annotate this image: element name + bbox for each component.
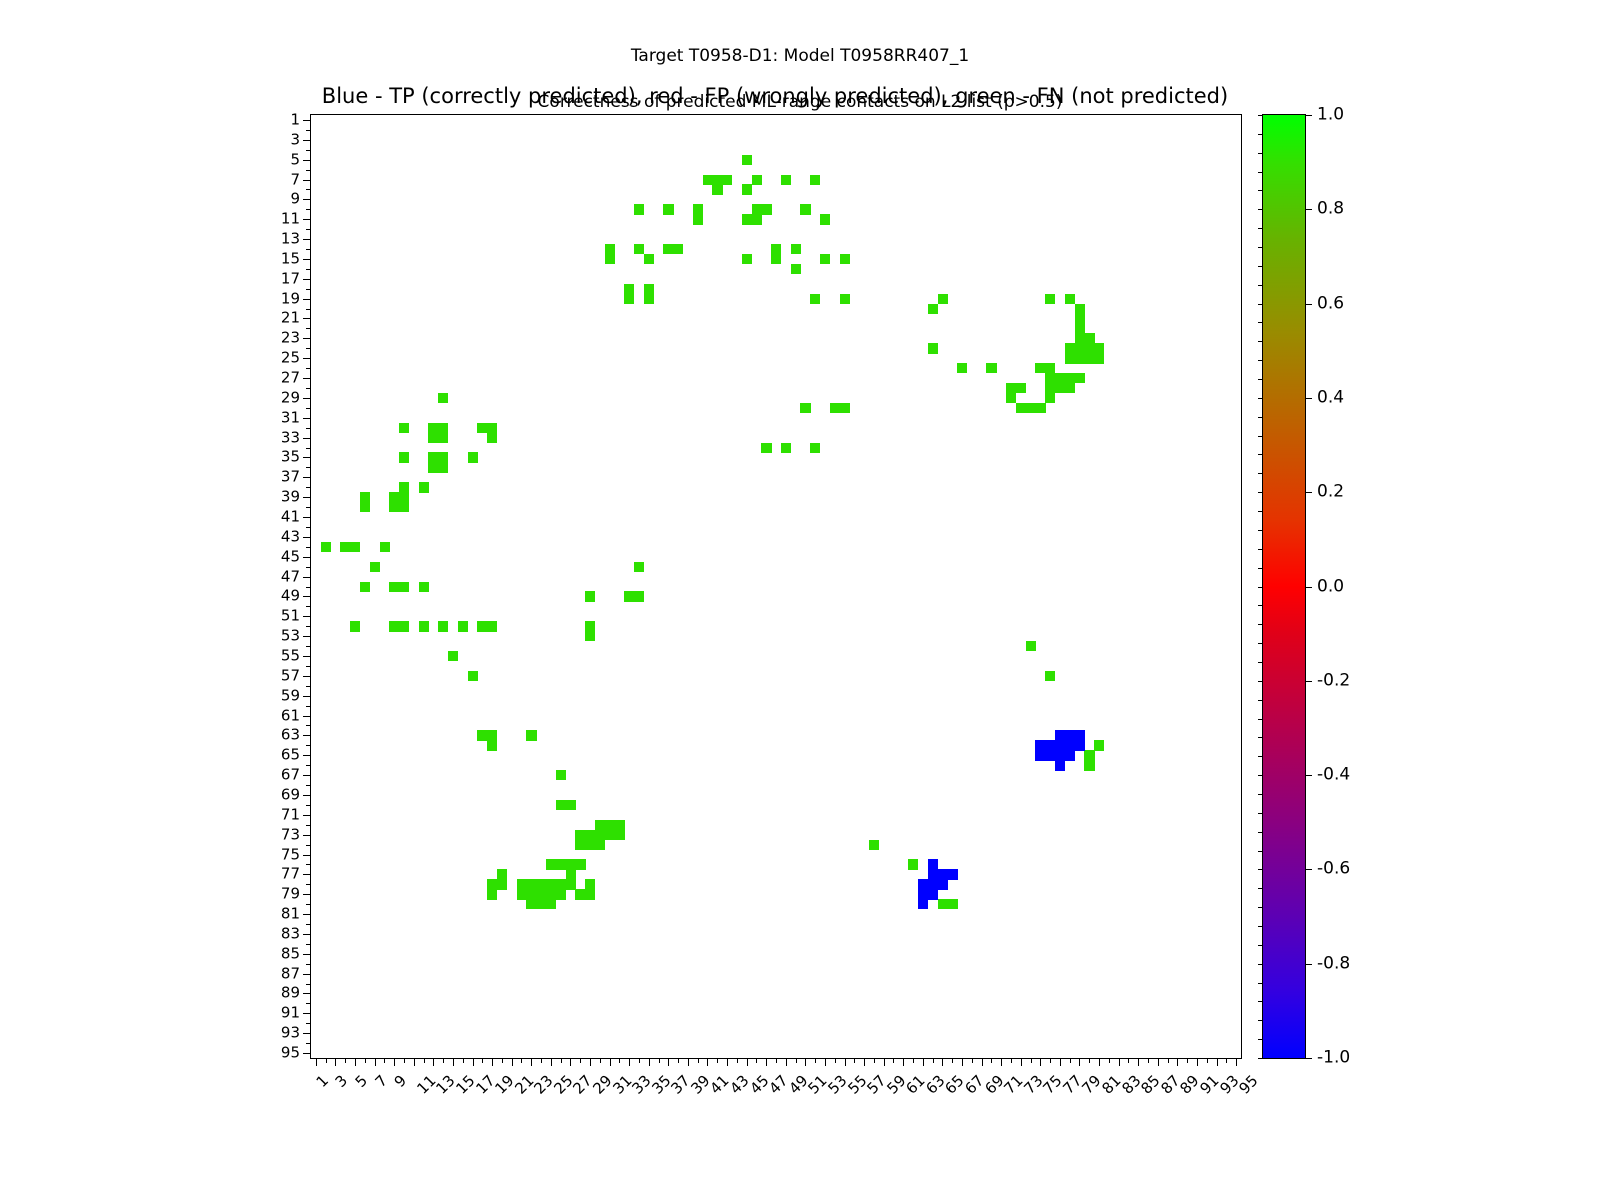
y-axis-minor-tick — [306, 984, 311, 985]
y-axis-tick — [303, 596, 311, 597]
contact-cell-fn — [399, 423, 409, 433]
contact-cell-fn — [634, 562, 644, 572]
contact-cell-fn — [1055, 383, 1065, 393]
y-axis-tick-label: 7 — [290, 172, 300, 187]
contact-cell-fn — [1016, 383, 1026, 393]
x-axis-minor-tick — [913, 1058, 914, 1063]
y-axis-tick-label: 19 — [281, 291, 300, 306]
colorbar-minor-tick — [1258, 832, 1263, 833]
contact-cell-fn — [840, 294, 850, 304]
y-axis-tick-label: 11 — [281, 212, 300, 227]
x-axis-minor-tick — [639, 1058, 640, 1063]
y-axis-tick-label: 79 — [281, 887, 300, 902]
x-axis-minor-tick — [1011, 1058, 1012, 1063]
y-axis-tick — [303, 696, 311, 697]
x-axis-tick — [1177, 1058, 1178, 1066]
contact-cell-fn — [644, 254, 654, 264]
contact-cell-tp — [938, 879, 948, 889]
colorbar-minor-tick — [1258, 266, 1263, 267]
x-axis-minor-tick — [815, 1058, 816, 1063]
y-axis-tick — [303, 954, 311, 955]
colorbar-minor-tick — [1258, 662, 1263, 663]
colorbar-minor-tick — [1258, 888, 1263, 889]
contact-cell-fn — [928, 304, 938, 314]
contact-cell-fn — [791, 264, 801, 274]
y-axis-tick — [303, 537, 311, 538]
x-axis-minor-tick — [659, 1058, 660, 1063]
contact-map-plot-area[interactable]: 1357911131517192123252729313335373941434… — [310, 114, 1242, 1059]
colorbar-minor-tick — [1258, 209, 1263, 210]
colorbar-minor-tick — [1258, 1058, 1263, 1059]
colorbar-minor-tick — [1258, 549, 1263, 550]
y-axis-tick — [303, 299, 311, 300]
x-axis-tick — [1060, 1058, 1061, 1066]
x-axis-tick — [786, 1058, 787, 1066]
contact-cell-fn — [546, 879, 556, 889]
colorbar-minor-tick — [1258, 1020, 1263, 1021]
contact-cell-fn — [360, 582, 370, 592]
y-axis-tick — [303, 795, 311, 796]
contact-cell-fn — [487, 730, 497, 740]
contact-cell-tp — [947, 869, 957, 879]
colorbar-minor-tick — [1258, 436, 1263, 437]
x-axis-minor-tick — [541, 1058, 542, 1063]
colorbar-minor-tick — [1258, 756, 1263, 757]
contact-cell-fn — [399, 582, 409, 592]
contact-cell-fn — [1075, 304, 1085, 314]
x-axis-minor-tick — [991, 1058, 992, 1063]
y-axis-tick-label: 89 — [281, 986, 300, 1001]
contact-cell-fn — [605, 830, 615, 840]
contact-cell-fn — [585, 879, 595, 889]
contact-cell-fn — [477, 423, 487, 433]
contact-cell-fn — [585, 591, 595, 601]
contact-cell-tp — [1065, 740, 1075, 750]
colorbar-minor-tick — [1258, 737, 1263, 738]
contact-cell-fn — [428, 462, 438, 472]
x-axis-tick — [570, 1058, 571, 1066]
y-axis-tick — [303, 735, 311, 736]
y-axis-minor-tick — [306, 130, 311, 131]
contact-cell-fn — [448, 651, 458, 661]
contact-cell-fn — [487, 879, 497, 889]
contact-cell-fn — [526, 889, 536, 899]
contact-cell-fn — [428, 423, 438, 433]
contact-cell-fn — [1006, 393, 1016, 403]
x-axis-minor-tick — [874, 1058, 875, 1063]
y-axis-minor-tick — [306, 547, 311, 548]
contact-cell-fn — [1055, 373, 1065, 383]
x-axis-minor-tick — [678, 1058, 679, 1063]
y-axis-tick — [303, 775, 311, 776]
contact-cell-fn — [947, 899, 957, 909]
contact-cell-tp — [918, 879, 928, 889]
x-axis-tick-label: 7 — [373, 1073, 390, 1090]
y-axis-tick-label: 29 — [281, 390, 300, 405]
contact-cell-fn — [487, 740, 497, 750]
y-axis-minor-tick — [306, 408, 311, 409]
colorbar-minor-tick — [1258, 247, 1263, 248]
contact-cell-fn — [556, 879, 566, 889]
contact-cell-tp — [928, 869, 938, 879]
colorbar-minor-tick — [1258, 190, 1263, 191]
contact-cell-fn — [1075, 353, 1085, 363]
colorbar-minor-tick — [1258, 379, 1263, 380]
colorbar-minor-tick — [1258, 964, 1263, 965]
contact-cell-fn — [800, 403, 810, 413]
colorbar-tick-label: -0.4 — [1317, 767, 1350, 784]
y-axis-tick-label: 65 — [281, 748, 300, 763]
contact-cells-layer — [311, 115, 1241, 1058]
contact-cell-fn — [468, 671, 478, 681]
y-axis-minor-tick — [306, 368, 311, 369]
contact-cell-fn — [781, 443, 791, 453]
x-axis-minor-tick — [756, 1058, 757, 1063]
x-axis-tick — [825, 1058, 826, 1066]
contact-cell-fn — [585, 621, 595, 631]
colorbar-minor-tick — [1258, 417, 1263, 418]
y-axis-minor-tick — [306, 785, 311, 786]
y-axis-minor-tick — [306, 825, 311, 826]
y-axis-tick-label: 63 — [281, 728, 300, 743]
colorbar-tick-label: -0.2 — [1317, 672, 1350, 689]
x-axis-minor-tick — [933, 1058, 934, 1063]
x-axis-tick — [688, 1058, 689, 1066]
x-axis-tick — [942, 1058, 943, 1066]
x-axis-tick — [531, 1058, 532, 1066]
y-axis-minor-tick — [306, 328, 311, 329]
x-axis-tick — [1040, 1058, 1041, 1066]
x-axis-tick — [1158, 1058, 1159, 1066]
y-axis-minor-tick — [306, 587, 311, 588]
figure-canvas: Target T0958-D1: Model T0958RR407_1 Corr… — [0, 0, 1600, 1200]
x-axis-tick — [433, 1058, 434, 1066]
contact-cell-fn — [438, 393, 448, 403]
y-axis-minor-tick — [306, 507, 311, 508]
contact-cell-tp — [1065, 730, 1075, 740]
y-axis-tick-label: 93 — [281, 1026, 300, 1041]
colorbar-minor-tick — [1258, 454, 1263, 455]
x-axis-tick — [473, 1058, 474, 1066]
y-axis-tick-label: 73 — [281, 827, 300, 842]
colorbar-tick — [1305, 681, 1312, 682]
y-axis-tick-label: 49 — [281, 589, 300, 604]
colorbar-minor-tick — [1258, 1039, 1263, 1040]
colorbar-tick — [1305, 115, 1312, 116]
y-axis-tick-label: 17 — [281, 271, 300, 286]
x-axis-tick — [590, 1058, 591, 1066]
colorbar-minor-tick — [1258, 719, 1263, 720]
colorbar[interactable]: 1.00.80.60.40.20.0-0.2-0.4-0.6-0.8-1.0 — [1262, 114, 1306, 1059]
y-axis-minor-tick — [306, 606, 311, 607]
y-axis-minor-tick — [306, 805, 311, 806]
colorbar-minor-tick — [1258, 700, 1263, 701]
contact-cell-fn — [1075, 323, 1085, 333]
contact-cell-fn — [585, 840, 595, 850]
contact-cell-tp — [1065, 750, 1075, 760]
contact-cell-fn — [781, 175, 791, 185]
y-axis-minor-tick — [306, 626, 311, 627]
x-axis-tick — [884, 1058, 885, 1066]
colorbar-tick — [1305, 587, 1312, 588]
contact-cell-fn — [566, 859, 576, 869]
contact-cell-fn — [1065, 353, 1075, 363]
x-axis-tick-label: 1 — [314, 1073, 331, 1090]
x-axis-tick-label: 3 — [333, 1073, 350, 1090]
x-axis-minor-tick — [952, 1058, 953, 1063]
y-axis-tick — [303, 318, 311, 319]
x-axis-minor-tick — [345, 1058, 346, 1063]
contact-cell-fn — [752, 175, 762, 185]
contact-cell-fn — [399, 482, 409, 492]
y-axis-tick — [303, 874, 311, 875]
y-axis-tick — [303, 676, 311, 677]
x-axis-minor-tick — [619, 1058, 620, 1063]
contact-cell-fn — [1075, 373, 1085, 383]
y-axis-tick — [303, 418, 311, 419]
contact-cell-fn — [712, 175, 722, 185]
y-axis-tick-label: 1 — [290, 112, 300, 127]
contact-cell-fn — [389, 492, 399, 502]
colorbar-tick-label: 0.4 — [1317, 389, 1344, 406]
x-axis-tick — [923, 1058, 924, 1066]
x-axis-minor-tick — [698, 1058, 699, 1063]
contact-cell-fn — [1045, 393, 1055, 403]
contact-cell-tp — [928, 879, 938, 889]
contact-cell-fn — [820, 214, 830, 224]
colorbar-tick — [1305, 492, 1312, 493]
y-axis-tick-label: 91 — [281, 1006, 300, 1021]
contact-cell-fn — [938, 899, 948, 909]
contact-cell-fn — [575, 840, 585, 850]
x-axis-tick — [1197, 1058, 1198, 1066]
x-axis-minor-tick — [972, 1058, 973, 1063]
x-axis-tick — [805, 1058, 806, 1066]
y-axis-minor-tick — [306, 348, 311, 349]
contact-cell-fn — [389, 582, 399, 592]
contact-cell-fn — [1075, 333, 1085, 343]
contact-cell-fn — [1084, 343, 1094, 353]
y-axis-tick-label: 25 — [281, 351, 300, 366]
y-axis-tick-label: 69 — [281, 787, 300, 802]
contact-cell-fn — [624, 294, 634, 304]
contact-cell-fn — [742, 184, 752, 194]
contact-cell-fn — [546, 899, 556, 909]
y-axis-tick-label: 75 — [281, 847, 300, 862]
colorbar-minor-tick — [1258, 398, 1263, 399]
contact-cell-fn — [1045, 383, 1055, 393]
contact-cell-fn — [938, 294, 948, 304]
x-axis-minor-tick — [1148, 1058, 1149, 1063]
y-axis-minor-tick — [306, 765, 311, 766]
x-axis-minor-tick — [326, 1058, 327, 1063]
y-axis-minor-tick — [306, 209, 311, 210]
contact-cell-fn — [761, 443, 771, 453]
colorbar-minor-tick — [1258, 568, 1263, 569]
colorbar-tick — [1305, 209, 1312, 210]
x-axis-minor-tick — [1109, 1058, 1110, 1063]
y-axis-tick-label: 53 — [281, 629, 300, 644]
colorbar-tick — [1305, 869, 1312, 870]
contact-cell-fn — [419, 621, 429, 631]
colorbar-minor-tick — [1258, 983, 1263, 984]
y-axis-tick — [303, 716, 311, 717]
contact-cell-fn — [389, 502, 399, 512]
contact-cell-fn — [742, 155, 752, 165]
x-axis-minor-tick — [424, 1058, 425, 1063]
contact-cell-fn — [399, 452, 409, 462]
y-axis-tick — [303, 1013, 311, 1014]
y-axis-minor-tick — [306, 269, 311, 270]
x-axis-tick — [610, 1058, 611, 1066]
contact-cell-fn — [1084, 353, 1094, 363]
contact-cell-fn — [360, 492, 370, 502]
y-axis-minor-tick — [306, 487, 311, 488]
y-axis-tick — [303, 398, 311, 399]
contact-cell-fn — [546, 859, 556, 869]
contact-cell-tp — [1035, 750, 1045, 760]
x-axis-minor-tick — [502, 1058, 503, 1063]
y-axis-tick — [303, 755, 311, 756]
contact-cell-fn — [438, 462, 448, 472]
contact-cell-fn — [1026, 403, 1036, 413]
x-axis-tick-label: 5 — [353, 1073, 370, 1090]
colorbar-tick-label: -0.8 — [1317, 955, 1350, 972]
contact-cell-fn — [517, 889, 527, 899]
y-axis-tick — [303, 239, 311, 240]
contact-cell-fn — [928, 343, 938, 353]
y-axis-tick-label: 33 — [281, 430, 300, 445]
x-axis-minor-tick — [463, 1058, 464, 1063]
x-axis-tick — [766, 1058, 767, 1066]
x-axis-tick — [962, 1058, 963, 1066]
contact-cell-fn — [810, 294, 820, 304]
contact-cell-fn — [1075, 343, 1085, 353]
x-axis-tick-label: 95 — [1237, 1073, 1261, 1097]
y-axis-tick-label: 35 — [281, 450, 300, 465]
colorbar-minor-tick — [1258, 228, 1263, 229]
x-axis-minor-tick — [1089, 1058, 1090, 1063]
y-axis-tick-label: 15 — [281, 251, 300, 266]
colorbar-tick-label: -0.6 — [1317, 861, 1350, 878]
contact-cell-fn — [419, 582, 429, 592]
y-axis-tick-label: 95 — [281, 1046, 300, 1061]
contact-cell-tp — [938, 869, 948, 879]
colorbar-tick-label: 0.8 — [1317, 201, 1344, 218]
y-axis-tick-label: 27 — [281, 371, 300, 386]
contact-cell-fn — [399, 621, 409, 631]
y-axis-tick — [303, 577, 311, 578]
contact-cell-fn — [957, 363, 967, 373]
contact-cell-tp — [1055, 730, 1065, 740]
y-axis-tick-label: 55 — [281, 648, 300, 663]
y-axis-tick — [303, 497, 311, 498]
x-axis-minor-tick — [835, 1058, 836, 1063]
contact-cell-fn — [595, 840, 605, 850]
contact-cell-fn — [1045, 363, 1055, 373]
colorbar-tick — [1305, 775, 1312, 776]
x-axis-tick-label: 9 — [392, 1073, 409, 1090]
y-axis-tick-label: 51 — [281, 609, 300, 624]
y-axis-minor-tick — [306, 467, 311, 468]
y-axis-minor-tick — [306, 189, 311, 190]
contact-cell-fn — [1006, 383, 1016, 393]
colorbar-minor-tick — [1258, 1001, 1263, 1002]
y-axis-minor-tick — [306, 706, 311, 707]
y-axis-tick-label: 5 — [290, 152, 300, 167]
y-axis-tick-label: 3 — [290, 132, 300, 147]
contact-cell-fn — [360, 502, 370, 512]
contact-cell-fn — [693, 214, 703, 224]
y-axis-tick-label: 37 — [281, 470, 300, 485]
contact-cell-fn — [1045, 373, 1055, 383]
contact-cell-tp — [918, 899, 928, 909]
contact-cell-fn — [1026, 641, 1036, 651]
contact-cell-fn — [1094, 353, 1104, 363]
contact-cell-fn — [350, 621, 360, 631]
contact-cell-tp — [1055, 740, 1065, 750]
y-axis-tick — [303, 199, 311, 200]
contact-cell-fn — [1084, 333, 1094, 343]
contact-cell-fn — [761, 204, 771, 214]
y-axis-tick-label: 9 — [290, 192, 300, 207]
y-axis-tick — [303, 914, 311, 915]
y-axis-tick — [303, 120, 311, 121]
x-axis-minor-tick — [1031, 1058, 1032, 1063]
contact-cell-tp — [1035, 740, 1045, 750]
contact-cell-fn — [556, 800, 566, 810]
x-axis-minor-tick — [717, 1058, 718, 1063]
contact-cell-fn — [673, 244, 683, 254]
y-axis-minor-tick — [306, 646, 311, 647]
y-axis-minor-tick — [306, 904, 311, 905]
contact-cell-fn — [575, 859, 585, 869]
x-axis-tick — [335, 1058, 336, 1066]
colorbar-tick-label: 0.2 — [1317, 484, 1344, 501]
x-axis-minor-tick — [443, 1058, 444, 1063]
x-axis-tick — [1021, 1058, 1022, 1066]
contact-cell-fn — [752, 214, 762, 224]
y-axis-minor-tick — [306, 309, 311, 310]
x-axis-tick — [845, 1058, 846, 1066]
y-axis-tick — [303, 894, 311, 895]
y-axis-tick — [303, 140, 311, 141]
colorbar-minor-tick — [1258, 643, 1263, 644]
y-axis-tick-label: 83 — [281, 926, 300, 941]
contact-cell-fn — [742, 254, 752, 264]
x-axis-tick — [394, 1058, 395, 1066]
axes-title-legend: Blue - TP (correctly predicted), red - F… — [310, 84, 1240, 108]
x-axis-minor-tick — [737, 1058, 738, 1063]
y-axis-minor-tick — [306, 150, 311, 151]
contact-cell-fn — [536, 889, 546, 899]
contact-cell-fn — [634, 591, 644, 601]
colorbar-minor-tick — [1258, 285, 1263, 286]
colorbar-minor-tick — [1258, 813, 1263, 814]
x-axis-tick — [727, 1058, 728, 1066]
contact-cell-fn — [1075, 314, 1085, 324]
contact-cell-fn — [605, 820, 615, 830]
x-axis-tick — [864, 1058, 865, 1066]
colorbar-tick — [1305, 964, 1312, 965]
x-axis-tick — [649, 1058, 650, 1066]
contact-cell-fn — [595, 830, 605, 840]
contact-cell-fn — [1035, 403, 1045, 413]
colorbar-tick — [1305, 304, 1312, 305]
y-axis-tick — [303, 1033, 311, 1034]
contact-cell-fn — [771, 244, 781, 254]
y-axis-tick-label: 87 — [281, 966, 300, 981]
